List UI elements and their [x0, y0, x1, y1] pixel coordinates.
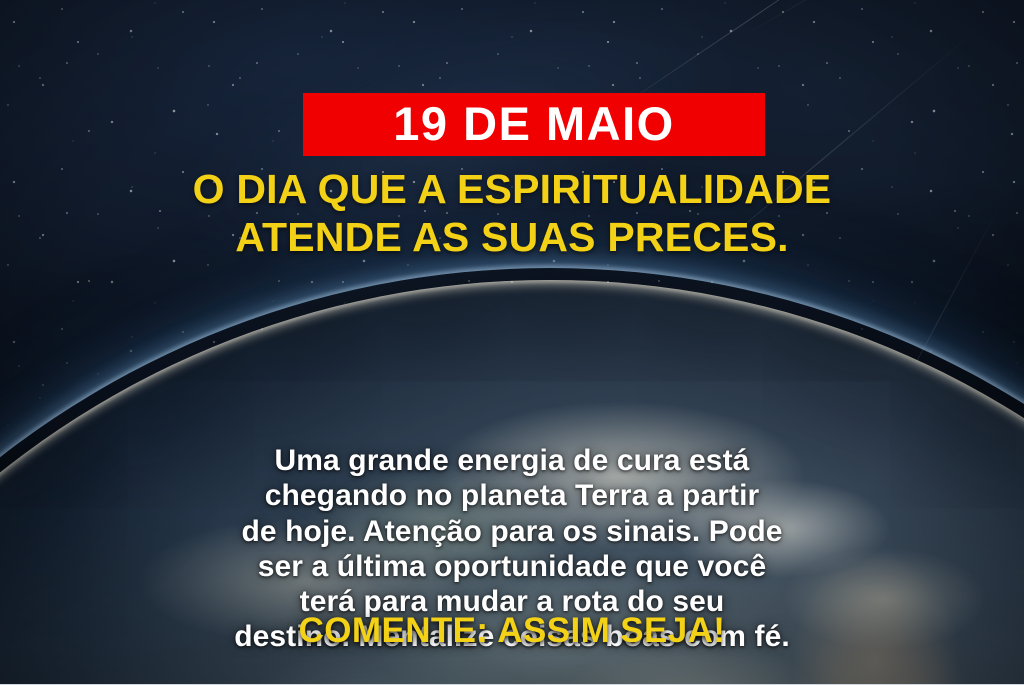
body-line-2: chegando no planeta Terra a partir: [48, 478, 976, 513]
poster-canvas: 19 DE MAIO O DIA QUE A ESPIRITUALIDADE A…: [0, 0, 1024, 685]
poster-content: 19 DE MAIO O DIA QUE A ESPIRITUALIDADE A…: [0, 0, 1024, 684]
headline: O DIA QUE A ESPIRITUALIDADE ATENDE AS SU…: [0, 166, 1024, 261]
call-to-action-text: COMENTE: ASSIM SEJA!: [0, 611, 1024, 651]
headline-line-2: ATENDE AS SUAS PRECES.: [44, 214, 980, 262]
body-line-3: de hoje. Atenção para os sinais. Pode: [48, 514, 976, 549]
headline-line-1: O DIA QUE A ESPIRITUALIDADE: [193, 166, 832, 212]
body-line-4: ser a última oportunidade que você: [48, 549, 976, 584]
date-banner-label: 19 DE MAIO: [393, 100, 674, 147]
body-line-1: Uma grande energia de cura está: [48, 443, 976, 478]
date-banner: 19 DE MAIO: [303, 93, 765, 156]
